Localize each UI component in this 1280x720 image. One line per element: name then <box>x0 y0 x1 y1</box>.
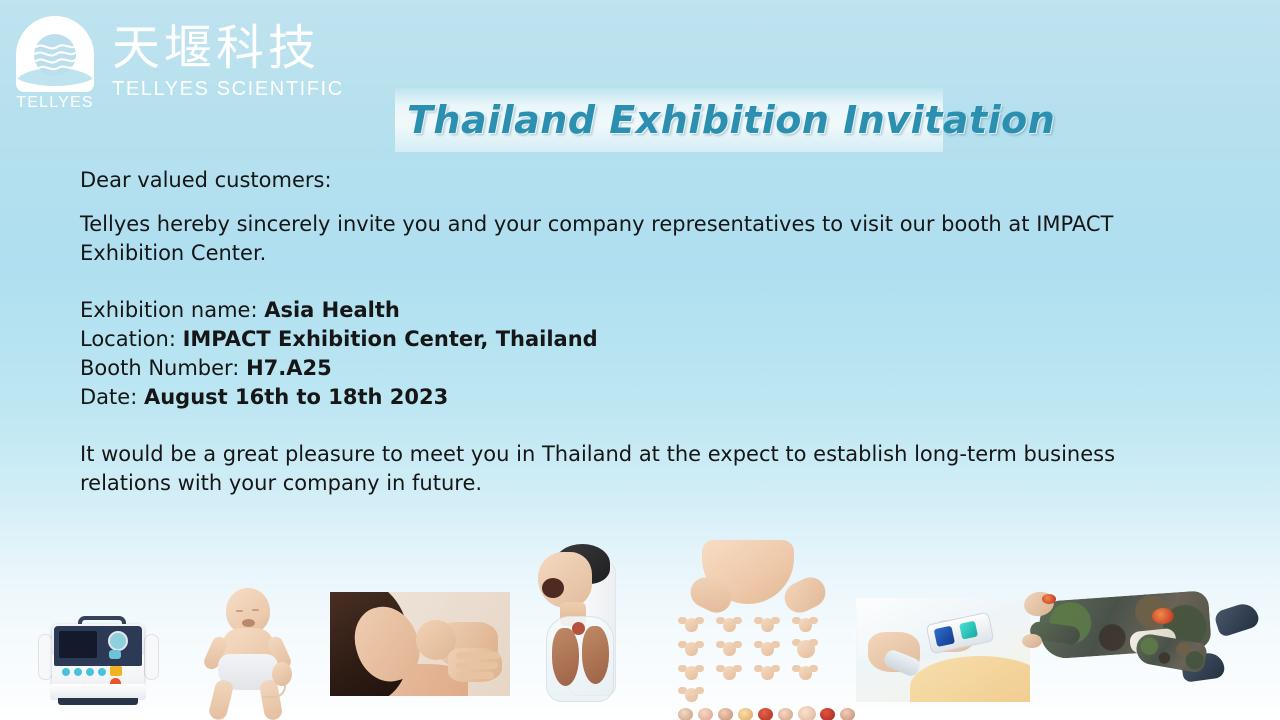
detail-booth-number: Booth Number: H7.A25 <box>80 354 1220 383</box>
intro-paragraph: Tellyes hereby sincerely invite you and … <box>80 210 1220 268</box>
combat-trauma-casualty-manikin-image <box>1018 578 1272 706</box>
gyn-uterus-model <box>754 640 780 658</box>
sim-device-screen-cyan <box>959 621 978 640</box>
trauma-boot-upper <box>1213 600 1261 638</box>
gyn-uterus-model <box>754 664 780 682</box>
trauma-manikin-hand <box>1022 634 1042 648</box>
gyn-uterus-model <box>678 640 704 658</box>
defib-button <box>62 668 70 676</box>
spacer <box>80 268 1220 296</box>
detail-label: Exhibition name: <box>80 298 264 322</box>
defib-button <box>74 668 82 676</box>
defib-foot <box>58 698 138 705</box>
brand-name-chinese: 天堰科技 <box>112 22 344 74</box>
page-title: Thailand Exhibition Invitation <box>395 98 1055 142</box>
detail-value: August 16th to 18th 2023 <box>144 385 448 409</box>
airway-lung-left <box>552 628 579 686</box>
brand-name-english: TELLYES SCIENTIFIC <box>112 76 344 102</box>
gyn-uterus-model <box>678 616 704 634</box>
detail-label: Location: <box>80 327 183 351</box>
detail-date: Date: August 16th to 18th 2023 <box>80 383 1220 412</box>
detail-value: Asia Health <box>264 298 400 322</box>
detail-exhibition-name: Exhibition name: Asia Health <box>80 296 1220 325</box>
infant-eye <box>252 609 259 611</box>
sim-manikin-abdomen <box>910 656 1030 702</box>
gyn-uterus-model <box>754 616 780 634</box>
airway-lung-right <box>582 626 609 684</box>
defib-paddle-right <box>144 634 159 680</box>
infant-leg-left <box>207 678 234 720</box>
gyn-uterus-model <box>716 640 742 658</box>
gyn-uterus-model <box>678 686 704 704</box>
gyn-cervix-model <box>820 708 835 720</box>
gyn-cervix-model <box>798 706 816 720</box>
sim-device-screen-blue <box>934 626 955 647</box>
gyn-uterus-model <box>716 616 742 634</box>
product-image-strip <box>0 520 1280 720</box>
detail-label: Date: <box>80 385 144 409</box>
gyn-uterus-model <box>678 664 704 682</box>
gyn-cervix-model <box>718 708 733 720</box>
closing-paragraph: It would be a great pleasure to meet you… <box>80 440 1190 498</box>
title-banner: Thailand Exhibition Invitation <box>395 88 943 152</box>
gyn-cervix-model <box>698 708 713 720</box>
infant-squeeze-bulb <box>272 662 292 686</box>
logo-wordmark: TELLYES <box>12 94 98 112</box>
infant-mouth <box>242 619 255 627</box>
brand-name-block: 天堰科技 TELLYES SCIENTIFIC <box>112 16 344 102</box>
gyn-cervix-model <box>840 708 855 720</box>
spacer <box>80 412 1220 440</box>
defib-screen <box>59 631 97 658</box>
airway-lung-intubation-trainer-image <box>528 544 628 716</box>
defib-energy-dial <box>108 631 128 651</box>
gyn-cervix-model <box>778 708 793 720</box>
trauma-wound <box>1042 594 1056 604</box>
invitation-slide: TELLYES 天堰科技 TELLYES SCIENTIFIC Thailand… <box>0 0 1280 720</box>
brand-logo: TELLYES 天堰科技 TELLYES SCIENTIFIC <box>12 16 344 116</box>
detail-label: Booth Number: <box>80 356 246 380</box>
defib-button <box>86 668 94 676</box>
defib-paddle-left <box>38 634 53 680</box>
breastfeeding-nursing-trainer-image <box>330 592 510 696</box>
nursing-finger <box>456 652 500 659</box>
gyn-cervix-model <box>738 708 753 720</box>
detail-value: IMPACT Exhibition Center, Thailand <box>183 327 598 351</box>
gyn-uterus-model <box>792 638 818 656</box>
infant-cpr-manikin-image <box>196 588 300 714</box>
nursing-finger <box>456 672 494 679</box>
salutation-text: Dear valued customers: <box>80 166 1220 195</box>
invitation-body: Dear valued customers: Tellyes hereby si… <box>80 166 1220 498</box>
gyn-uterus-model <box>792 664 818 682</box>
spacer <box>80 195 1220 210</box>
defib-charge-button <box>110 666 122 676</box>
detail-value: H7.A25 <box>246 356 332 380</box>
gyn-cervix-model <box>678 708 693 720</box>
gynecological-training-model-set-image <box>672 540 844 720</box>
detail-location: Location: IMPACT Exhibition Center, Thai… <box>80 325 1220 354</box>
gyn-uterus-model <box>716 664 742 682</box>
defib-secondary-dial <box>109 650 121 659</box>
defib-button <box>98 668 106 676</box>
tellyes-dome-logo-icon: TELLYES <box>12 16 98 116</box>
nursing-finger <box>456 662 498 669</box>
birthing-simulation-photo-image <box>856 598 1030 702</box>
gyn-uterus-model <box>792 616 818 634</box>
gyn-cervix-model <box>758 708 773 720</box>
airway-heart <box>572 622 585 635</box>
infant-eye <box>236 610 243 612</box>
trauma-wound <box>1152 608 1174 624</box>
defibrillator-monitor-image <box>36 624 160 710</box>
logo-wave-circle-icon <box>34 34 76 76</box>
airway-open-mouth <box>542 578 564 598</box>
